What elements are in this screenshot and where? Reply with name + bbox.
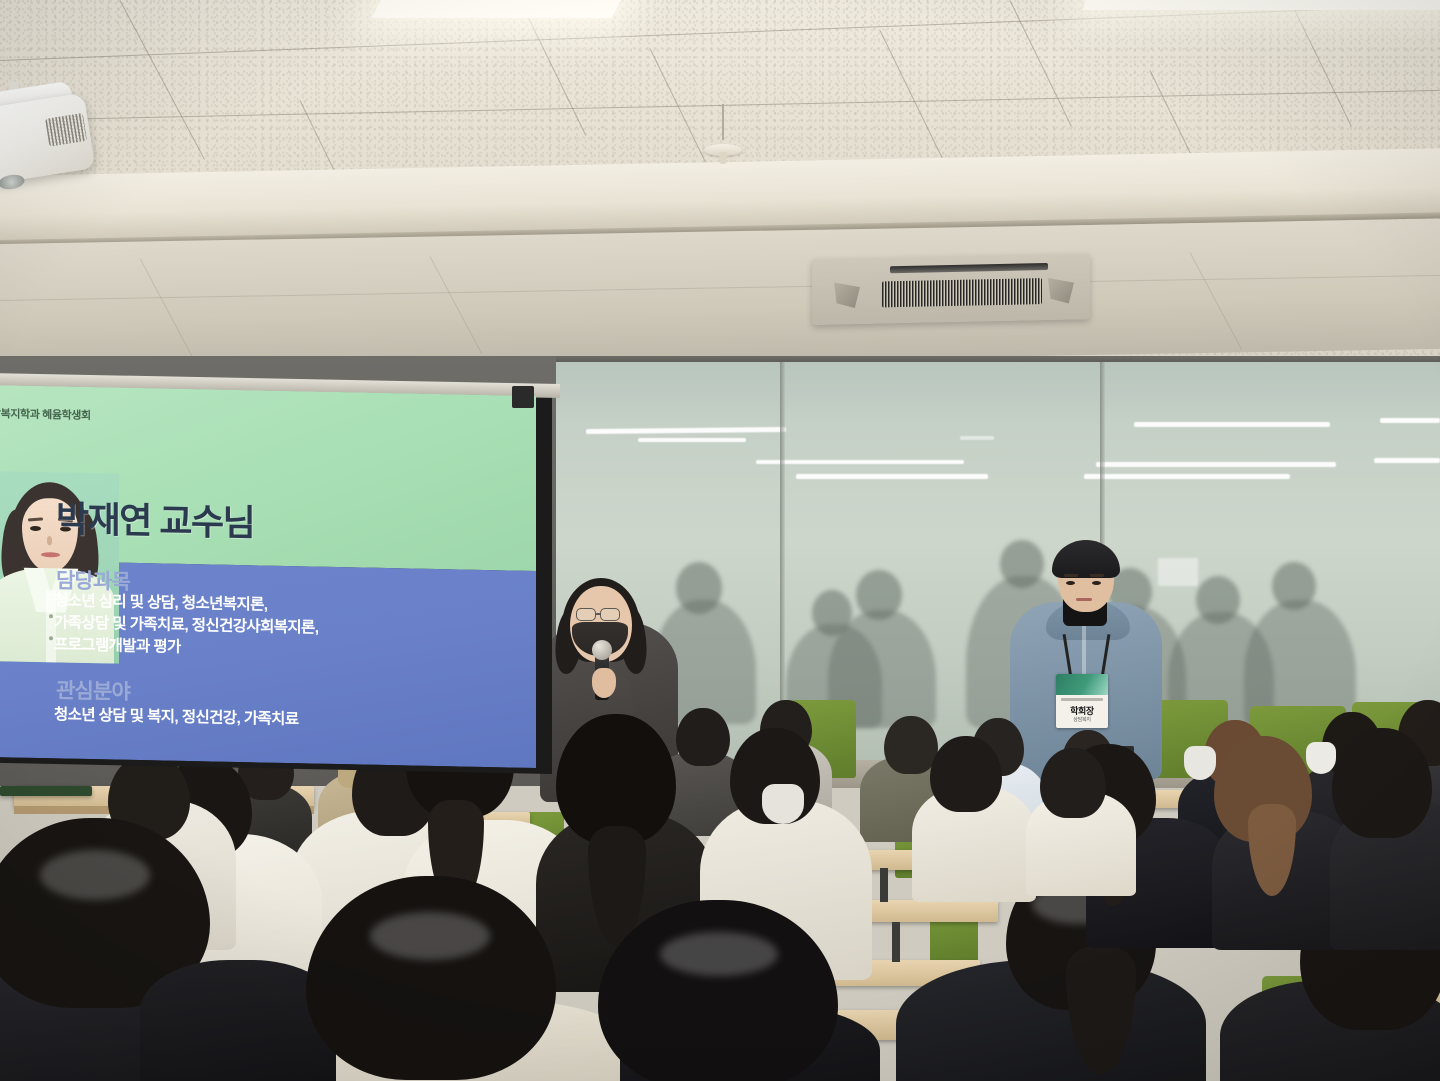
badge-department-label: 상담복지 (1056, 716, 1108, 723)
ceiling-light-panel (372, 0, 629, 18)
ceiling (0, 0, 1440, 360)
slide-title: 박재연 교수님 (56, 490, 254, 546)
audience-face-mask (1184, 746, 1216, 780)
ac-grille (882, 278, 1042, 307)
microphone-head (592, 640, 612, 660)
ceiling-sprinkler-icon (704, 138, 742, 168)
ac-air-slot (890, 263, 1048, 273)
speaker-glasses-lens (576, 608, 596, 621)
audience-head (884, 716, 938, 774)
portrait-nose (47, 536, 52, 545)
portrait-mouth (41, 552, 60, 557)
portrait-button (49, 636, 53, 640)
lower-ceiling-plane (0, 219, 1440, 360)
presentation-slide: 청소년상담복지학과 혜윰학생회 박재연 교수님 담당과목 청소년 심리 및 상담… (0, 385, 536, 768)
student-leader-eye (1066, 581, 1075, 585)
ceiling-projector (0, 76, 102, 200)
sprinkler-head (719, 152, 727, 164)
audience-head (930, 736, 1002, 812)
badge-header-band (1056, 674, 1108, 695)
ac-corner-vent (834, 282, 860, 309)
projector-lens (0, 173, 25, 191)
lecture-hall-photo: 청소년상담복지학과 혜윰학생회 박재연 교수님 담당과목 청소년 심리 및 상담… (0, 0, 1440, 1081)
audience-head (676, 708, 730, 766)
ceiling-ac-diffuser (812, 253, 1090, 325)
audience-head (1040, 748, 1106, 818)
audience-face-mask (762, 784, 804, 824)
screen-roller-end-cap (512, 386, 534, 408)
speaker-glasses-bridge (596, 613, 601, 615)
audience-head (1332, 728, 1432, 838)
audience-head (556, 714, 676, 844)
audience-face-mask (1306, 742, 1336, 774)
ac-corner-vent (1048, 277, 1074, 304)
portrait-eye (30, 526, 41, 531)
slide-section-body-courses: 청소년 심리 및 상담, 청소년복지론, 가족상담 및 가족치료, 정신건강사회… (54, 590, 524, 665)
speaker-glasses-lens (600, 608, 620, 621)
sprinkler-stem (722, 104, 724, 140)
student-leader-eyebrow (1090, 574, 1104, 577)
desk-leg (880, 868, 888, 902)
student-leader-eyebrow (1064, 574, 1078, 577)
projector-vent-grille (45, 113, 87, 147)
desk-folder (0, 786, 92, 796)
badge-divider (1061, 698, 1103, 701)
student-leader-eye (1092, 581, 1101, 585)
ceiling-light-panel (1083, 0, 1440, 10)
portrait-button (49, 614, 53, 618)
slide-organization-header: 청소년상담복지학과 혜윰학생회 (0, 404, 162, 424)
student-leader-mouth (1076, 598, 1092, 601)
name-badge: 학회장 상담복지 (1056, 674, 1108, 728)
slide-section-heading-interests: 관심분야 (56, 674, 130, 705)
speaker-hand (592, 668, 616, 698)
audience-head (306, 876, 556, 1080)
desk-leg (892, 922, 900, 962)
